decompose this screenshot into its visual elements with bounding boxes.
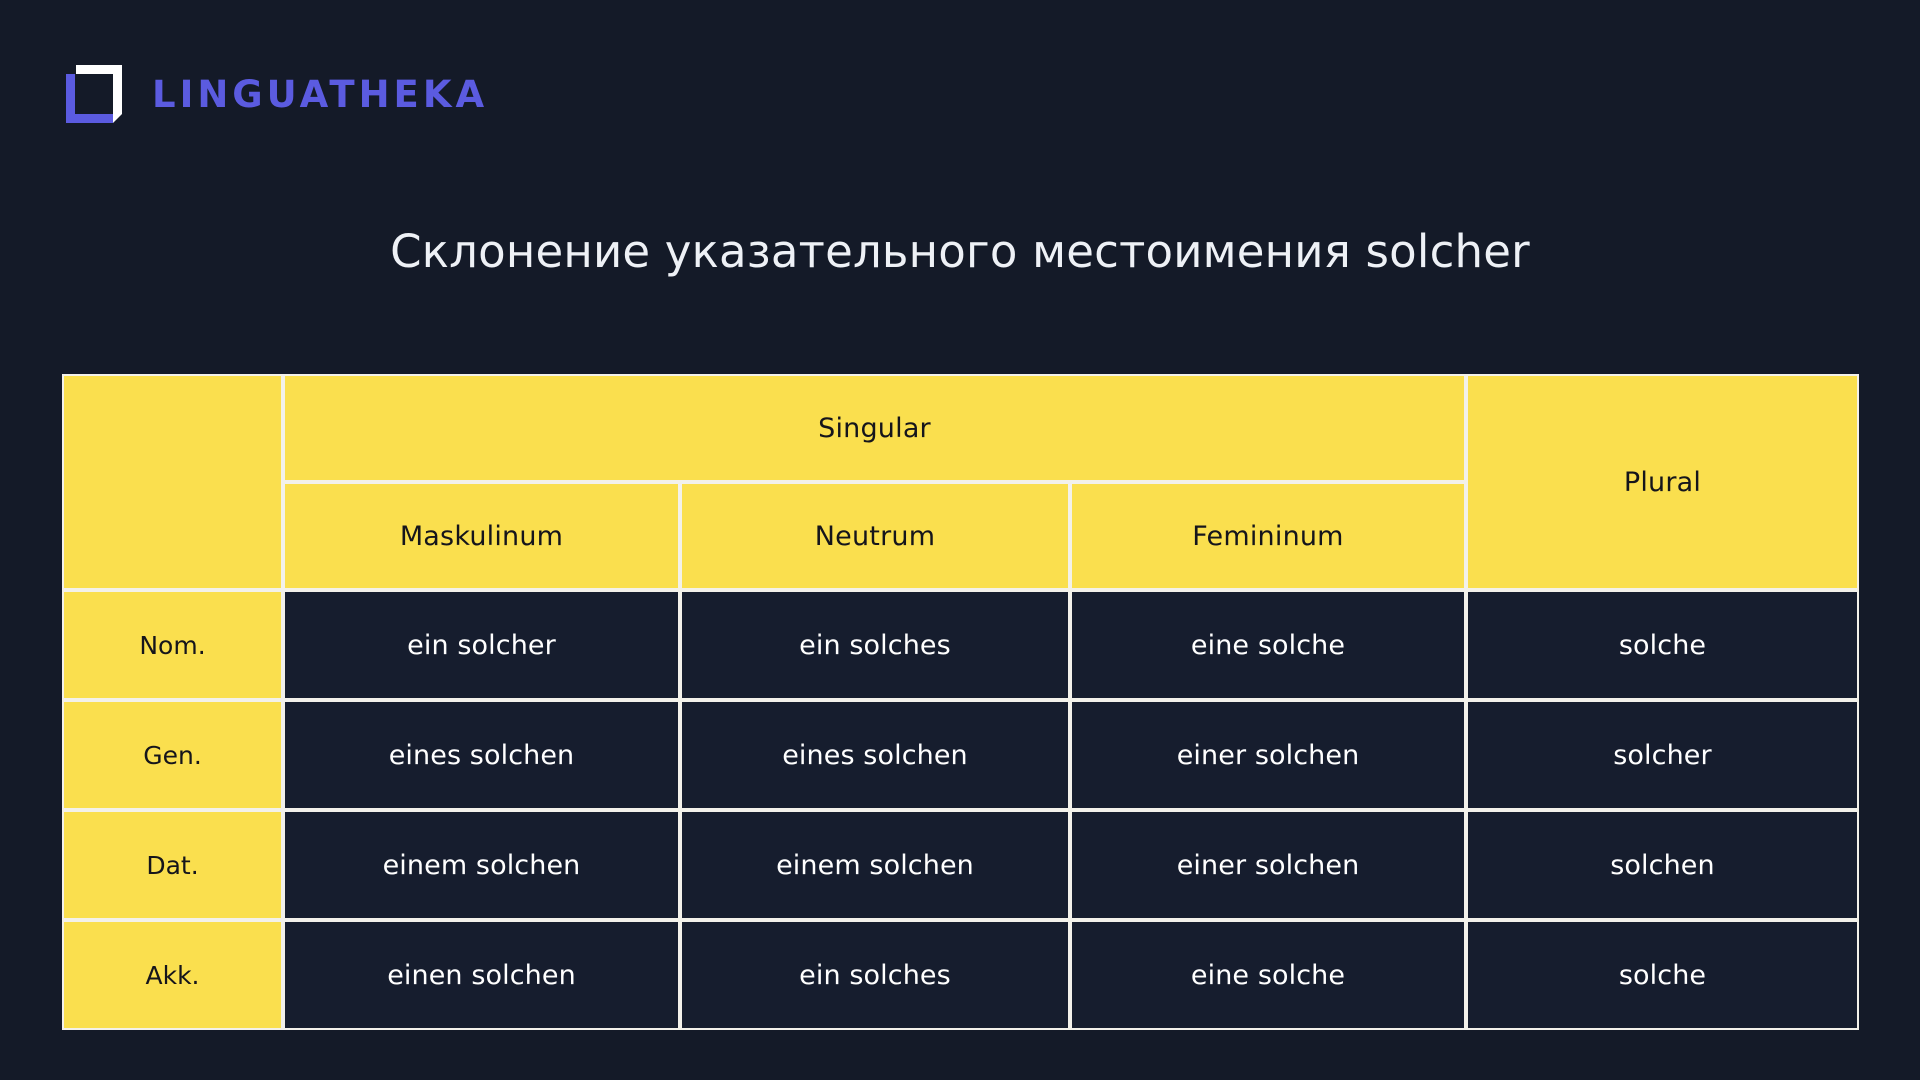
cell-gen-maskulinum: eines solchen (283, 700, 680, 810)
case-label-gen: Gen. (62, 700, 283, 810)
case-label-akk: Akk. (62, 920, 283, 1030)
cell-dat-neutrum: einem solchen (680, 810, 1070, 920)
table-corner-cell (62, 374, 283, 590)
cell-akk-neutrum: ein solches (680, 920, 1070, 1030)
brand-name: LINGUATHEKA (152, 76, 488, 113)
table-header-maskulinum: Maskulinum (283, 482, 680, 590)
declension-table: Singular Plural Maskulinum Neutrum Femin… (62, 374, 1859, 1030)
bracket-square-logo-icon (62, 62, 126, 126)
table-head: Singular Plural Maskulinum Neutrum Femin… (62, 374, 1859, 590)
declension-table-wrapper: Singular Plural Maskulinum Neutrum Femin… (62, 374, 1859, 1030)
cell-gen-neutrum: eines solchen (680, 700, 1070, 810)
cell-gen-plural: solcher (1466, 700, 1859, 810)
table-header-row-groups: Singular Plural (62, 374, 1859, 482)
table-header-plural: Plural (1466, 374, 1859, 590)
table-row: Akk. einen solchen ein solches eine solc… (62, 920, 1859, 1030)
cell-nom-plural: solche (1466, 590, 1859, 700)
case-label-dat: Dat. (62, 810, 283, 920)
table-header-singular: Singular (283, 374, 1466, 482)
table-body: Nom. ein solcher ein solches eine solche… (62, 590, 1859, 1030)
cell-dat-maskulinum: einem solchen (283, 810, 680, 920)
table-row: Nom. ein solcher ein solches eine solche… (62, 590, 1859, 700)
table-header-neutrum: Neutrum (680, 482, 1070, 590)
case-label-nom: Nom. (62, 590, 283, 700)
cell-dat-femininum: einer solchen (1070, 810, 1466, 920)
table-header-femininum: Femininum (1070, 482, 1466, 590)
cell-nom-maskulinum: ein solcher (283, 590, 680, 700)
cell-gen-femininum: einer solchen (1070, 700, 1466, 810)
cell-nom-femininum: eine solche (1070, 590, 1466, 700)
cell-akk-femininum: eine solche (1070, 920, 1466, 1030)
cell-dat-plural: solchen (1466, 810, 1859, 920)
cell-akk-plural: solche (1466, 920, 1859, 1030)
cell-akk-maskulinum: einen solchen (283, 920, 680, 1030)
table-row: Dat. einem solchen einem solchen einer s… (62, 810, 1859, 920)
cell-nom-neutrum: ein solches (680, 590, 1070, 700)
brand-logo[interactable]: LINGUATHEKA (62, 58, 488, 130)
table-row: Gen. eines solchen eines solchen einer s… (62, 700, 1859, 810)
page-title: Склонение указательного местоимения solc… (0, 225, 1920, 279)
